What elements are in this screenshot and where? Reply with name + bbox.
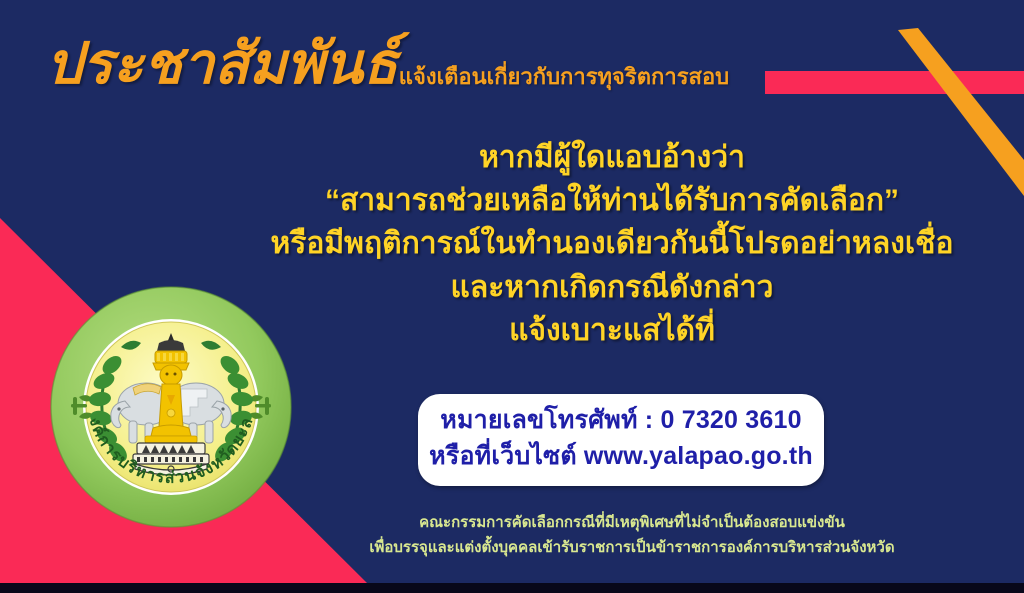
organization-seal-icon: องค์การบริหารส่วนจังหวัดยะลา — [49, 285, 293, 529]
page-title: ประชาสัมพันธ์ — [46, 36, 398, 93]
contact-website[interactable]: หรือที่เว็บไซต์ www.yalapao.go.th — [418, 439, 824, 475]
poster-header: ประชาสัมพันธ์ แจ้งเตือนเกี่ยวกับการทุจริ… — [46, 36, 729, 93]
announcement-poster: ประชาสัมพันธ์ แจ้งเตือนเกี่ยวกับการทุจริ… — [0, 0, 1024, 593]
contact-phone: หมายเลขโทรศัพท์ : 0 7320 3610 — [418, 403, 824, 439]
footnote-line-1: คณะกรรมการคัดเลือกกรณีที่มีเหตุพิเศษที่ไ… — [240, 511, 1024, 536]
message-line-4: และหากเกิดกรณีดังกล่าว — [236, 266, 988, 309]
message-line-1: หากมีผู้ใดแอบอ้างว่า — [236, 136, 988, 179]
page-subtitle: แจ้งเตือนเกี่ยวกับการทุจริตการสอบ — [399, 66, 729, 93]
warning-message: หากมีผู้ใดแอบอ้างว่า “สามารถช่วยเหลือให้… — [236, 136, 988, 352]
message-line-3: หรือมีพฤติการณ์ในทำนองเดียวกันนี้โปรดอย่… — [236, 222, 988, 265]
contact-info-box: หมายเลขโทรศัพท์ : 0 7320 3610 หรือที่เว็… — [418, 394, 824, 486]
message-line-5: แจ้งเบาะแสได้ที่ — [236, 309, 988, 352]
crimson-accent-bar — [765, 71, 1024, 94]
message-line-2: “สามารถช่วยเหลือให้ท่านได้รับการคัดเลือก… — [236, 179, 988, 222]
seal-graphic: องค์การบริหารส่วนจังหวัดยะลา — [49, 285, 293, 529]
footnote-line-2: เพื่อบรรจุและแต่งตั้งบุคคลเข้ารับราชการเ… — [240, 536, 1024, 561]
footnote-text: คณะกรรมการคัดเลือกกรณีที่มีเหตุพิเศษที่ไ… — [240, 511, 1024, 561]
bottom-strip — [0, 583, 1024, 593]
